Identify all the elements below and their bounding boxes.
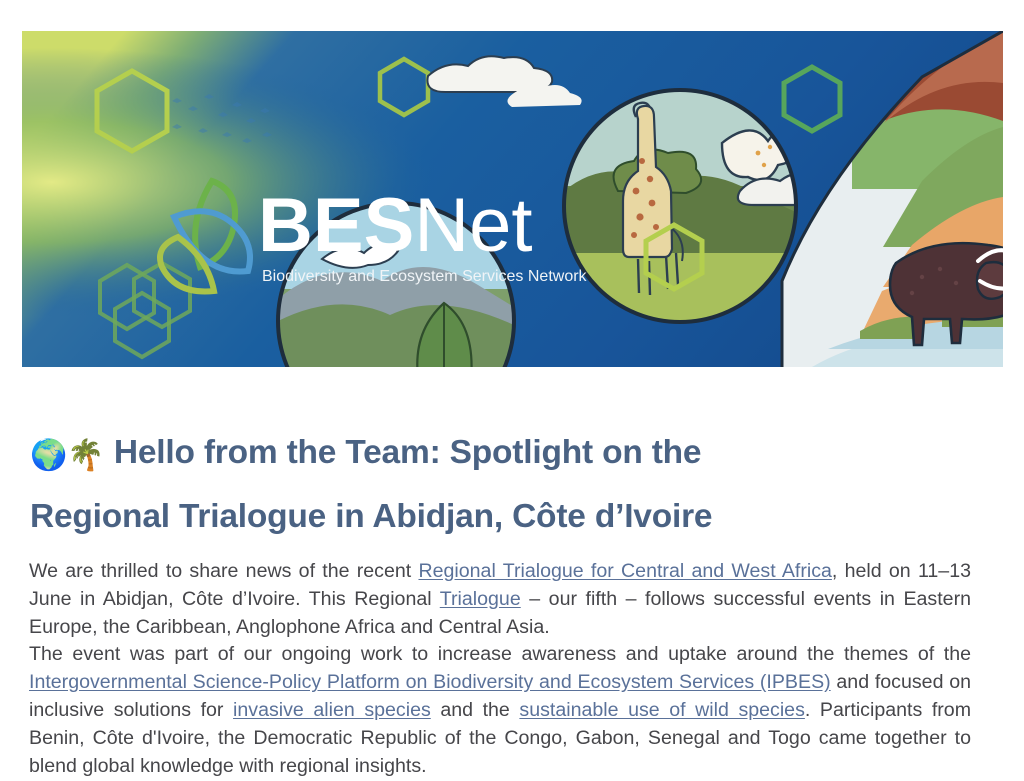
- link-invasive-alien-species[interactable]: invasive alien species: [233, 699, 431, 721]
- link-ipbes[interactable]: Intergovernmental Science-Policy Platfor…: [29, 671, 831, 693]
- link-trialogue[interactable]: Trialogue: [440, 588, 521, 610]
- palm-tree-emoji: 🌴: [67, 439, 104, 472]
- article-body: We are thrilled to share news of the rec…: [29, 558, 971, 780]
- p2-segment-1: The event was part of our ongoing work t…: [29, 643, 971, 665]
- besnet-logo-subtitle: Biodiversity and Ecosystem Services Netw…: [262, 268, 588, 285]
- page-title-line2: Regional Trialogue in Abidjan, Côte d’Iv…: [30, 498, 712, 535]
- newsletter-page: BESNet Biodiversity and Ecosystem Servic…: [0, 0, 1024, 781]
- p1-segment-1: We are thrilled to share news of the rec…: [29, 560, 418, 582]
- paragraph-2: The event was part of our ongoing work t…: [29, 641, 971, 780]
- p2-segment-3: and the: [431, 699, 520, 721]
- besnet-banner-image: BESNet Biodiversity and Ecosystem Servic…: [22, 31, 1003, 367]
- banner-illustration: BESNet Biodiversity and Ecosystem Servic…: [22, 31, 1003, 367]
- paragraph-1: We are thrilled to share news of the rec…: [29, 558, 971, 641]
- page-title: 🌍🌴 Hello from the Team: Spotlight on the…: [30, 422, 960, 547]
- link-sustainable-use-wild-species[interactable]: sustainable use of wild species: [519, 699, 805, 721]
- globe-emoji: 🌍: [30, 439, 67, 472]
- page-title-line1: Hello from the Team: Spotlight on the: [114, 434, 702, 471]
- besnet-logo-text: BESNet: [258, 183, 533, 268]
- link-regional-trialogue-central-west-africa[interactable]: Regional Trialogue for Central and West …: [418, 560, 831, 582]
